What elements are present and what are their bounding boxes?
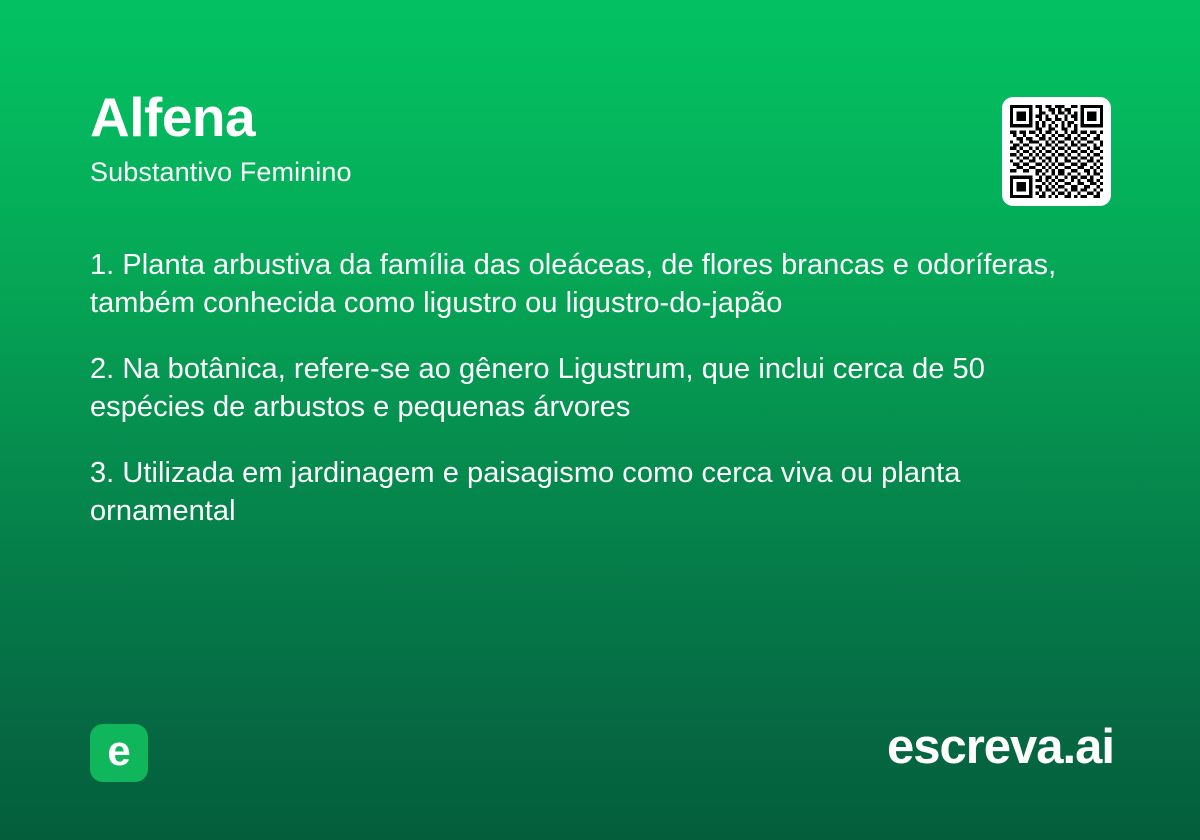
- definition-item: 3. Utilizada em jardinagem e paisagismo …: [90, 454, 1090, 530]
- page-title: Alfena: [90, 88, 1110, 146]
- card-header: Alfena Substantivo Feminino: [90, 88, 1110, 189]
- definition-list: 1. Planta arbustiva da família das oleác…: [90, 246, 1090, 530]
- brand-logo-letter: e: [107, 730, 130, 772]
- definition-item: 2. Na botânica, refere-se ao gênero Ligu…: [90, 350, 1090, 426]
- brand-wordmark: escreva.ai: [887, 718, 1114, 777]
- definition-item: 1. Planta arbustiva da família das oleác…: [90, 246, 1090, 322]
- qr-code-icon: [1010, 105, 1103, 198]
- word-class-label: Substantivo Feminino: [90, 156, 1110, 188]
- definition-card: Alfena Substantivo Feminino 1. Planta ar…: [0, 0, 1200, 840]
- qr-code-card[interactable]: [1002, 97, 1111, 206]
- brand-logo-badge: e: [90, 724, 148, 782]
